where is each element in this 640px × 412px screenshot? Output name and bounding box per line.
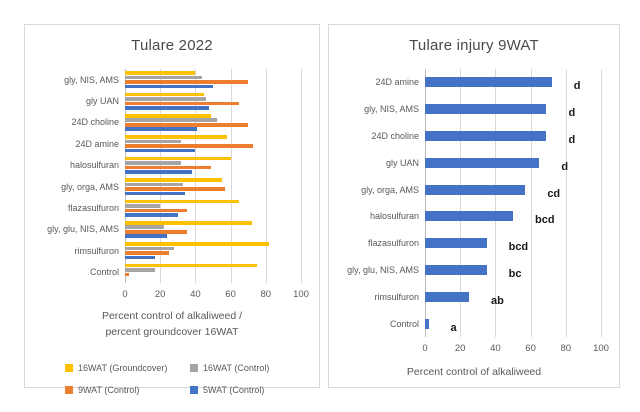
bar: [125, 209, 187, 213]
x-tick-label: 100: [593, 343, 609, 354]
bar: [125, 200, 239, 204]
right-plot-area: 24D aminedgly, NIS, AMSd24D cholinedgly …: [425, 69, 601, 337]
bar-group: gly, orga, AMS: [125, 176, 301, 197]
category-label: Control: [90, 267, 119, 277]
bar: [425, 104, 546, 114]
category-label: 24D choline: [371, 131, 419, 141]
bar: [425, 158, 539, 168]
bar: [125, 247, 174, 251]
bar: [125, 106, 209, 110]
significance-letter: ab: [491, 295, 504, 307]
bar: [125, 157, 231, 161]
bar: [125, 204, 160, 208]
bar: [125, 93, 204, 97]
left-axis-title-line1: Percent control of alkaliweed /: [25, 309, 319, 323]
bar-group: 24D choline: [125, 112, 301, 133]
bar: [125, 118, 217, 122]
significance-letter: a: [451, 322, 457, 334]
bar: [125, 268, 155, 272]
left-x-axis: 020406080100: [125, 289, 301, 303]
category-label: 24D amine: [75, 139, 119, 149]
bar-group: gly UANd: [425, 149, 601, 176]
bar: [425, 77, 552, 87]
significance-letter: cd: [547, 188, 560, 200]
category-label: gly, NIS, AMS: [64, 75, 119, 85]
x-tick-label: 40: [490, 343, 501, 354]
legend-item: 16WAT (Control): [190, 363, 315, 373]
legend-swatch-icon: [65, 386, 73, 394]
left-chart-title: Tulare 2022: [25, 37, 319, 54]
bar: [125, 71, 195, 75]
x-tick-label: 0: [422, 343, 427, 354]
bar: [125, 192, 185, 196]
bar: [125, 213, 178, 217]
legend-item: 9WAT (Control): [65, 385, 190, 395]
bar-group: gly, glu, NIS, AMSbc: [425, 257, 601, 284]
legend-swatch-icon: [190, 386, 198, 394]
significance-letter: bcd: [535, 214, 555, 226]
bar: [125, 144, 253, 148]
x-tick-label: 20: [455, 343, 466, 354]
gridline: [301, 69, 302, 283]
bar: [125, 221, 252, 225]
bar-group: gly, NIS, AMSd: [425, 96, 601, 123]
legend-label: 9WAT (Control): [78, 385, 139, 395]
x-tick-label: 40: [190, 289, 201, 300]
category-label: halosulfuran: [70, 160, 119, 170]
bar-group: 24D cholined: [425, 123, 601, 150]
bar-group: flazasulfuron: [125, 197, 301, 218]
bar: [425, 238, 487, 248]
bar: [125, 166, 211, 170]
right-chart-panel: Tulare injury 9WAT 24D aminedgly, NIS, A…: [328, 24, 620, 388]
category-label: rimsulfuron: [374, 292, 419, 302]
x-tick-label: 60: [225, 289, 236, 300]
x-tick-label: 80: [261, 289, 272, 300]
legend-label: 16WAT (Groundcover): [78, 363, 167, 373]
right-axis-title: Percent control of alkaliweed: [329, 365, 619, 379]
x-tick-label: 0: [122, 289, 127, 300]
left-plot-area: gly, NIS, AMSgly UAN24D choline24D amine…: [125, 69, 301, 283]
category-label: rimsulfuron: [74, 246, 119, 256]
bar: [425, 265, 487, 275]
bar: [425, 211, 513, 221]
category-label: gly, orga, AMS: [361, 185, 419, 195]
significance-letter: bc: [509, 268, 522, 280]
legend-swatch-icon: [190, 364, 198, 372]
significance-letter: d: [568, 107, 575, 119]
category-label: gly, NIS, AMS: [364, 104, 419, 114]
right-chart-title: Tulare injury 9WAT: [329, 37, 619, 54]
bar: [125, 225, 164, 229]
gridline: [601, 69, 602, 337]
category-label: Control: [390, 319, 419, 329]
legend-swatch-icon: [65, 364, 73, 372]
bar: [125, 273, 129, 277]
category-label: gly UAN: [386, 158, 419, 168]
bar: [425, 292, 469, 302]
right-x-axis: 020406080100: [425, 343, 601, 357]
bar: [125, 80, 248, 84]
legend-item: 16WAT (Groundcover): [65, 363, 190, 373]
bar-group: gly UAN: [125, 90, 301, 111]
bar: [125, 251, 169, 255]
category-label: gly UAN: [86, 96, 119, 106]
bar: [425, 131, 546, 141]
bar: [125, 178, 222, 182]
legend-item: 5WAT (Control): [190, 385, 315, 395]
x-tick-label: 20: [155, 289, 166, 300]
bar-group: rimsulfuronab: [425, 283, 601, 310]
category-label: gly, orga, AMS: [61, 182, 119, 192]
bar: [125, 127, 197, 131]
bar: [125, 140, 181, 144]
category-label: flazasulfuron: [68, 203, 119, 213]
category-label: 24D amine: [375, 77, 419, 87]
bar-group: halosulfuran: [125, 155, 301, 176]
bar: [125, 230, 187, 234]
bar-group: Control: [125, 262, 301, 283]
figure-root: Tulare 2022 gly, NIS, AMSgly UAN24D chol…: [0, 0, 640, 412]
significance-letter: d: [568, 134, 575, 146]
left-chart-legend: 16WAT (Groundcover)16WAT (Control)9WAT (…: [65, 363, 315, 395]
bar-group: gly, glu, NIS, AMS: [125, 219, 301, 240]
bar: [125, 242, 269, 246]
bar-group: Controla: [425, 310, 601, 337]
legend-label: 16WAT (Control): [203, 363, 269, 373]
bar: [125, 187, 225, 191]
category-label: 24D choline: [71, 117, 119, 127]
bar-group: gly, orga, AMScd: [425, 176, 601, 203]
bar: [425, 319, 429, 329]
significance-letter: bcd: [509, 241, 529, 253]
bar: [125, 76, 202, 80]
category-label: halosulfuran: [370, 211, 419, 221]
bar-group: flazasulfuronbcd: [425, 230, 601, 257]
bar: [125, 149, 195, 153]
bar: [125, 102, 239, 106]
bar: [125, 264, 257, 268]
category-label: gly, glu, NIS, AMS: [47, 224, 119, 234]
category-label: flazasulfuron: [368, 238, 419, 248]
x-tick-label: 60: [525, 343, 536, 354]
bar: [125, 234, 167, 238]
bar: [125, 97, 206, 101]
significance-letter: d: [561, 161, 568, 173]
bar-group: rimsulfuron: [125, 240, 301, 261]
left-axis-title-line2: percent groundcover 16WAT: [25, 325, 319, 339]
bar: [425, 185, 525, 195]
x-tick-label: 100: [293, 289, 309, 300]
bar-group: halosulfuranbcd: [425, 203, 601, 230]
left-chart-panel: Tulare 2022 gly, NIS, AMSgly UAN24D chol…: [24, 24, 320, 388]
bar: [125, 170, 192, 174]
category-label: gly, glu, NIS, AMS: [347, 265, 419, 275]
bar-group: 24D amine: [125, 133, 301, 154]
bar: [125, 161, 181, 165]
bar: [125, 114, 211, 118]
bar: [125, 135, 227, 139]
bar-group: gly, NIS, AMS: [125, 69, 301, 90]
bar-group: 24D amined: [425, 69, 601, 96]
bar: [125, 123, 248, 127]
bar: [125, 85, 213, 89]
x-tick-label: 80: [561, 343, 572, 354]
bar: [125, 256, 155, 260]
bar: [125, 183, 183, 187]
legend-label: 5WAT (Control): [203, 385, 264, 395]
significance-letter: d: [574, 80, 581, 92]
